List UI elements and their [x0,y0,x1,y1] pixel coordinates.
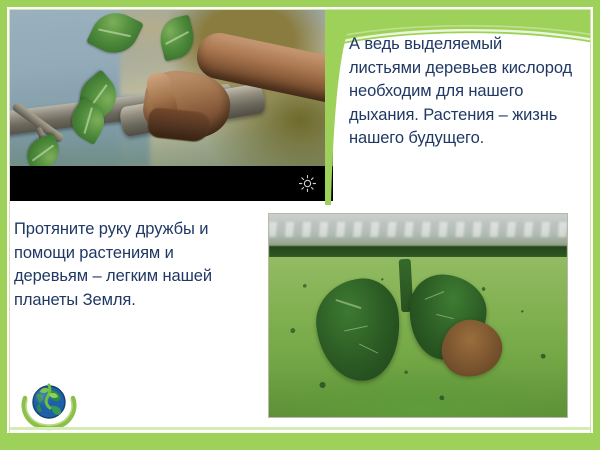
forest-lungs-aerial-photo [268,213,568,418]
hand-fingers [147,107,212,143]
earth-sprout-logo-icon [18,376,80,432]
aerial-sky [269,214,567,251]
green-banner-edge [325,0,347,205]
green-bottom-bar [0,433,600,450]
bottom-bar-hairline [10,427,590,430]
photo-black-bar [0,166,333,201]
presentation-slide: А ведь выделяемый листьями деревьев кисл… [0,0,600,450]
text-block-right: А ведь выделяемый листьями деревьев кисл… [349,33,574,151]
brightness-icon [298,174,317,193]
text-block-left: Протяните руку дружбы и помощи растениям… [14,218,229,312]
